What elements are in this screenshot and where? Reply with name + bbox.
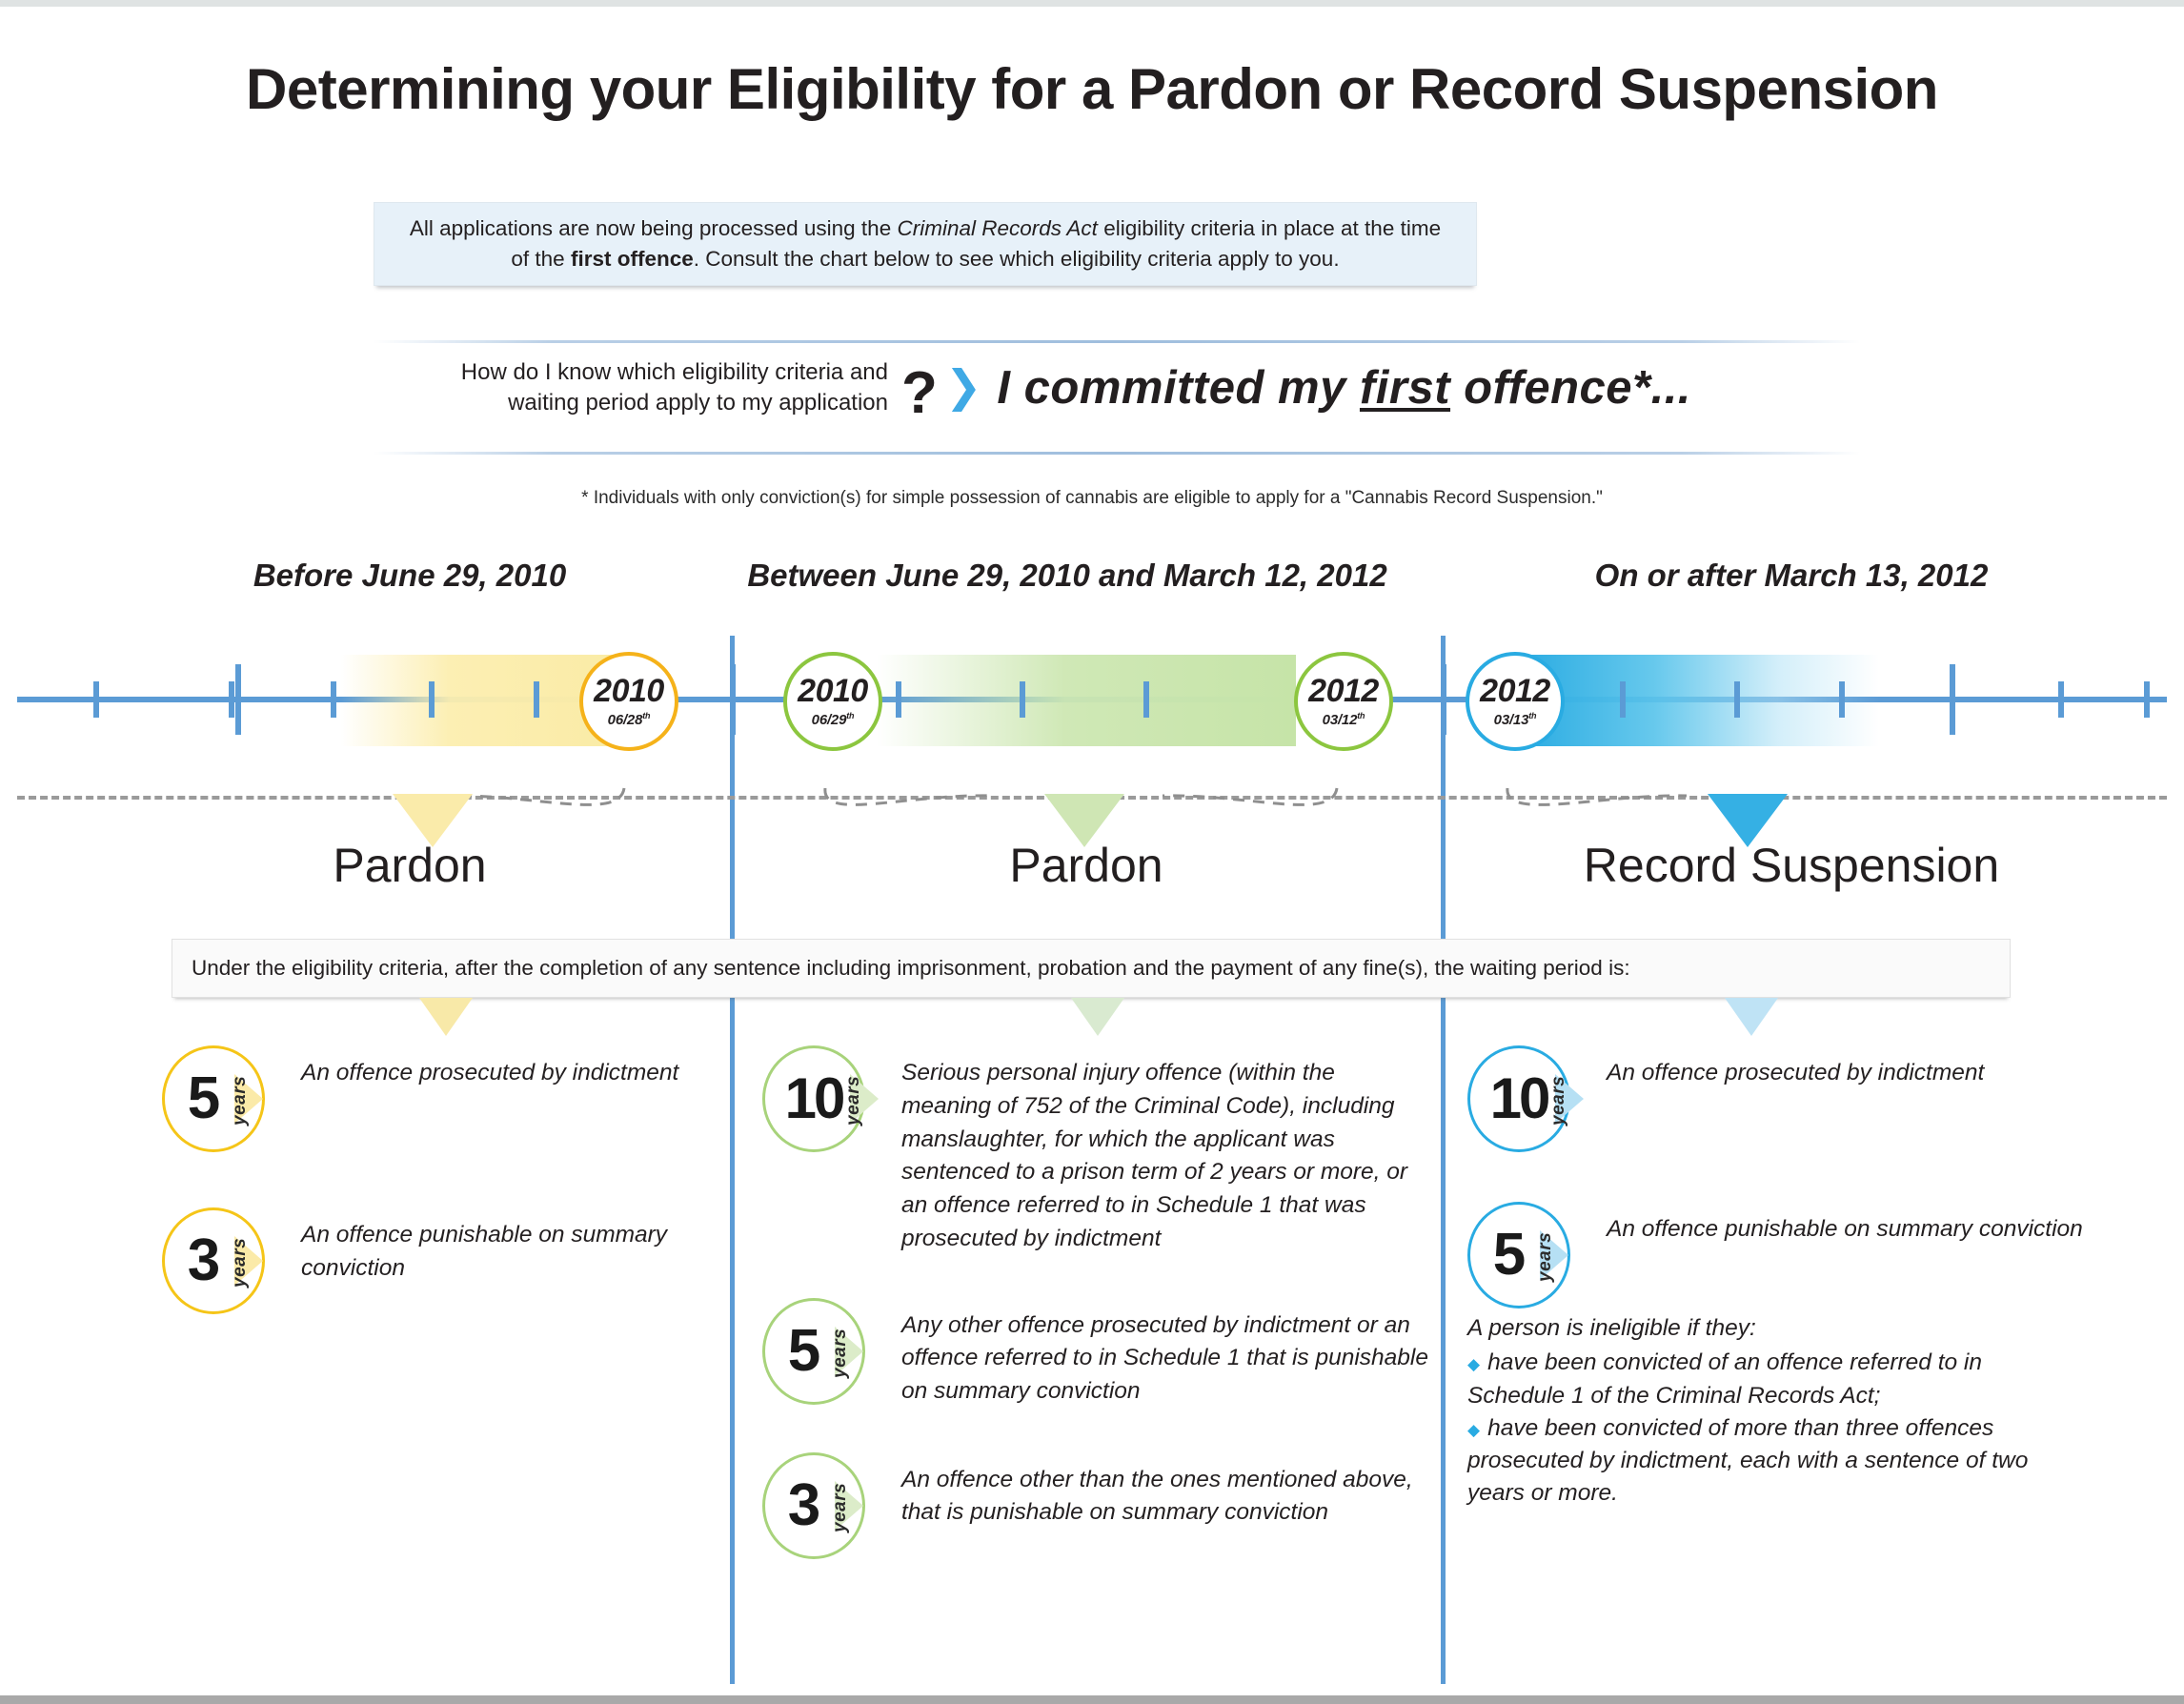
funnel-arrow-blue [1708,794,1788,847]
criteria-arrow-blue [1725,998,1778,1036]
notice-box: All applications are now being processed… [374,202,1477,286]
timeline-tick-tall [730,664,736,735]
diamond-bullet-icon: ◆ [1467,1355,1480,1373]
timeline-tick-tall [1950,664,1955,735]
column-header-after-2012: On or after March 13, 2012 [1467,558,2115,594]
column-header-between: Between June 29, 2010 and March 12, 2012 [686,558,1448,594]
timeline-tick-tall [1441,664,1446,735]
criteria-item-text: An offence punishable on summary convict… [301,1207,715,1286]
timeline-marker-2012-03-13: 2012 03/13th [1466,652,1565,751]
question-label: How do I know which eligibility criteria… [316,357,888,417]
band-rule-bottom [374,452,1860,455]
marker-date-sup: th [1528,711,1536,720]
timeline-tick [2144,681,2150,718]
criteria-item-text: An offence prosecuted by indictment [301,1045,678,1090]
page-title: Determining your Eligibility for a Pardo… [0,56,2184,122]
marker-year: 2010 [594,675,664,707]
years-badge-5: 5 years [162,1045,284,1158]
years-badge-10: 10 years [762,1045,884,1158]
notice-part1: All applications are now being processed… [410,216,898,240]
diamond-bullet-icon: ◆ [1467,1421,1480,1439]
marker-year: 2012 [1480,675,1550,707]
band-rule-top [374,340,1860,343]
badge-unit: years [1536,1217,1555,1297]
badge-unit: years [231,1061,250,1141]
timeline-tick [1839,681,1845,718]
criteria-item-text: An offence punishable on summary convict… [1607,1202,2083,1247]
criteria-item-text: Any other offence prosecuted by indictme… [901,1298,1429,1409]
marker-date-text: 06/29 [812,712,847,728]
chevron-right-icon: ❯ [945,364,982,408]
funnel-arrow-yellow [393,794,473,847]
ineligibility-bullet: ◆have been convicted of more than three … [1467,1412,2058,1511]
timeline-marker-2010-06-28: 2010 06/28th [579,652,678,751]
marker-date: 03/13th [1494,711,1537,728]
answer-underlined: first [1360,362,1450,414]
years-badge-3: 3 years [762,1452,884,1565]
outcome-label-record-suspension: Record Suspension [1467,838,2115,893]
question-label-line2: waiting period apply to my application [316,388,888,418]
criteria-item-text: An offence prosecuted by indictment [1607,1045,1984,1090]
criteria-item: 5 years An offence prosecuted by indictm… [162,1045,715,1158]
years-badge-10: 10 years [1467,1045,1589,1158]
marker-date: 06/28th [608,711,651,728]
criteria-column-3: 10 years An offence prosecuted by indict… [1467,1045,2096,1350]
marker-date-text: 03/13 [1494,712,1529,728]
question-answer: I committed my first offence*... [997,361,1691,415]
ineligibility-bullet-text: have been convicted of an offence referr… [1467,1349,1982,1408]
marker-date-text: 03/12 [1323,712,1358,728]
ineligibility-lead: A person is ineligible if they: [1467,1312,2058,1345]
question-row: How do I know which eligibility criteria… [316,357,1860,417]
marker-year: 2012 [1308,675,1379,707]
criteria-item: 10 years Serious personal injury offence… [762,1045,1429,1256]
criteria-item-text: Serious personal injury offence (within … [901,1045,1429,1256]
funnel-arrow-green [1044,794,1124,847]
criteria-item: 10 years An offence prosecuted by indict… [1467,1045,2096,1158]
criteria-arrow-green [1071,998,1124,1036]
criteria-item: 5 years An offence punishable on summary… [1467,1202,2096,1314]
criteria-item: 3 years An offence punishable on summary… [162,1207,715,1320]
ineligibility-block: A person is ineligible if they: ◆have be… [1467,1312,2058,1511]
timeline-tick [534,681,539,718]
criteria-bar: Under the eligibility criteria, after th… [172,939,2011,998]
marker-date-sup: th [846,711,854,720]
timeline-marker-2010-06-29: 2010 06/29th [783,652,882,751]
criteria-item: 3 years An offence other than the ones m… [762,1452,1429,1565]
timeline-tick-tall [235,664,241,735]
years-badge-5: 5 years [1467,1202,1589,1314]
notice-emphasis: first offence [571,247,694,271]
ineligibility-bullet: ◆have been convicted of an offence refer… [1467,1347,2058,1412]
badge-unit: years [231,1223,250,1303]
timeline-tick [896,681,901,718]
years-badge-3: 3 years [162,1207,284,1320]
criteria-item: 5 years Any other offence prosecuted by … [762,1298,1429,1410]
marker-date-text: 06/28 [608,712,643,728]
badge-unit: years [831,1313,850,1393]
column-header-before-2010: Before June 29, 2010 [143,558,677,594]
badge-unit: years [831,1468,850,1548]
question-label-line1: How do I know which eligibility criteria… [316,357,888,388]
question-mark-icon: ? [901,364,938,423]
cannabis-footnote: * Individuals with only conviction(s) fo… [0,488,2184,509]
answer-post: offence*... [1450,362,1691,414]
marker-date-sup: th [642,711,650,720]
criteria-bar-text: Under the eligibility criteria, after th… [192,956,1630,981]
marker-year: 2010 [798,675,868,707]
criteria-item-text: An offence other than the ones mentioned… [901,1452,1429,1531]
criteria-column-1: 5 years An offence prosecuted by indictm… [162,1045,715,1356]
marker-date-sup: th [1357,711,1365,720]
ineligibility-bullet-text: have been convicted of more than three o… [1467,1415,2028,1507]
criteria-arrow-yellow [419,998,473,1036]
badge-unit: years [844,1061,863,1141]
marker-date: 03/12th [1323,711,1365,728]
timeline-tick [1143,681,1149,718]
timeline-tick [1620,681,1626,718]
notice-text: All applications are now being processed… [399,213,1451,274]
marker-date: 06/29th [812,711,855,728]
timeline-tick [2058,681,2064,718]
years-badge-5: 5 years [762,1298,884,1410]
timeline-tick [331,681,336,718]
timeline-tick [1734,681,1740,718]
criteria-column-2: 10 years Serious personal injury offence… [762,1045,1429,1601]
notice-part3: . Consult the chart below to see which e… [694,247,1340,271]
answer-pre: I committed my [997,362,1360,414]
timeline-marker-2012-03-12: 2012 03/12th [1294,652,1393,751]
timeline-tick [429,681,435,718]
badge-unit: years [1549,1061,1568,1141]
timeline-tick [93,681,99,718]
infographic-canvas: Determining your Eligibility for a Pardo… [0,7,2184,1695]
notice-act-name: Criminal Records Act [897,216,1097,240]
question-band: How do I know which eligibility criteria… [374,340,1860,455]
timeline-tick [229,681,234,718]
timeline-tick [1020,681,1025,718]
